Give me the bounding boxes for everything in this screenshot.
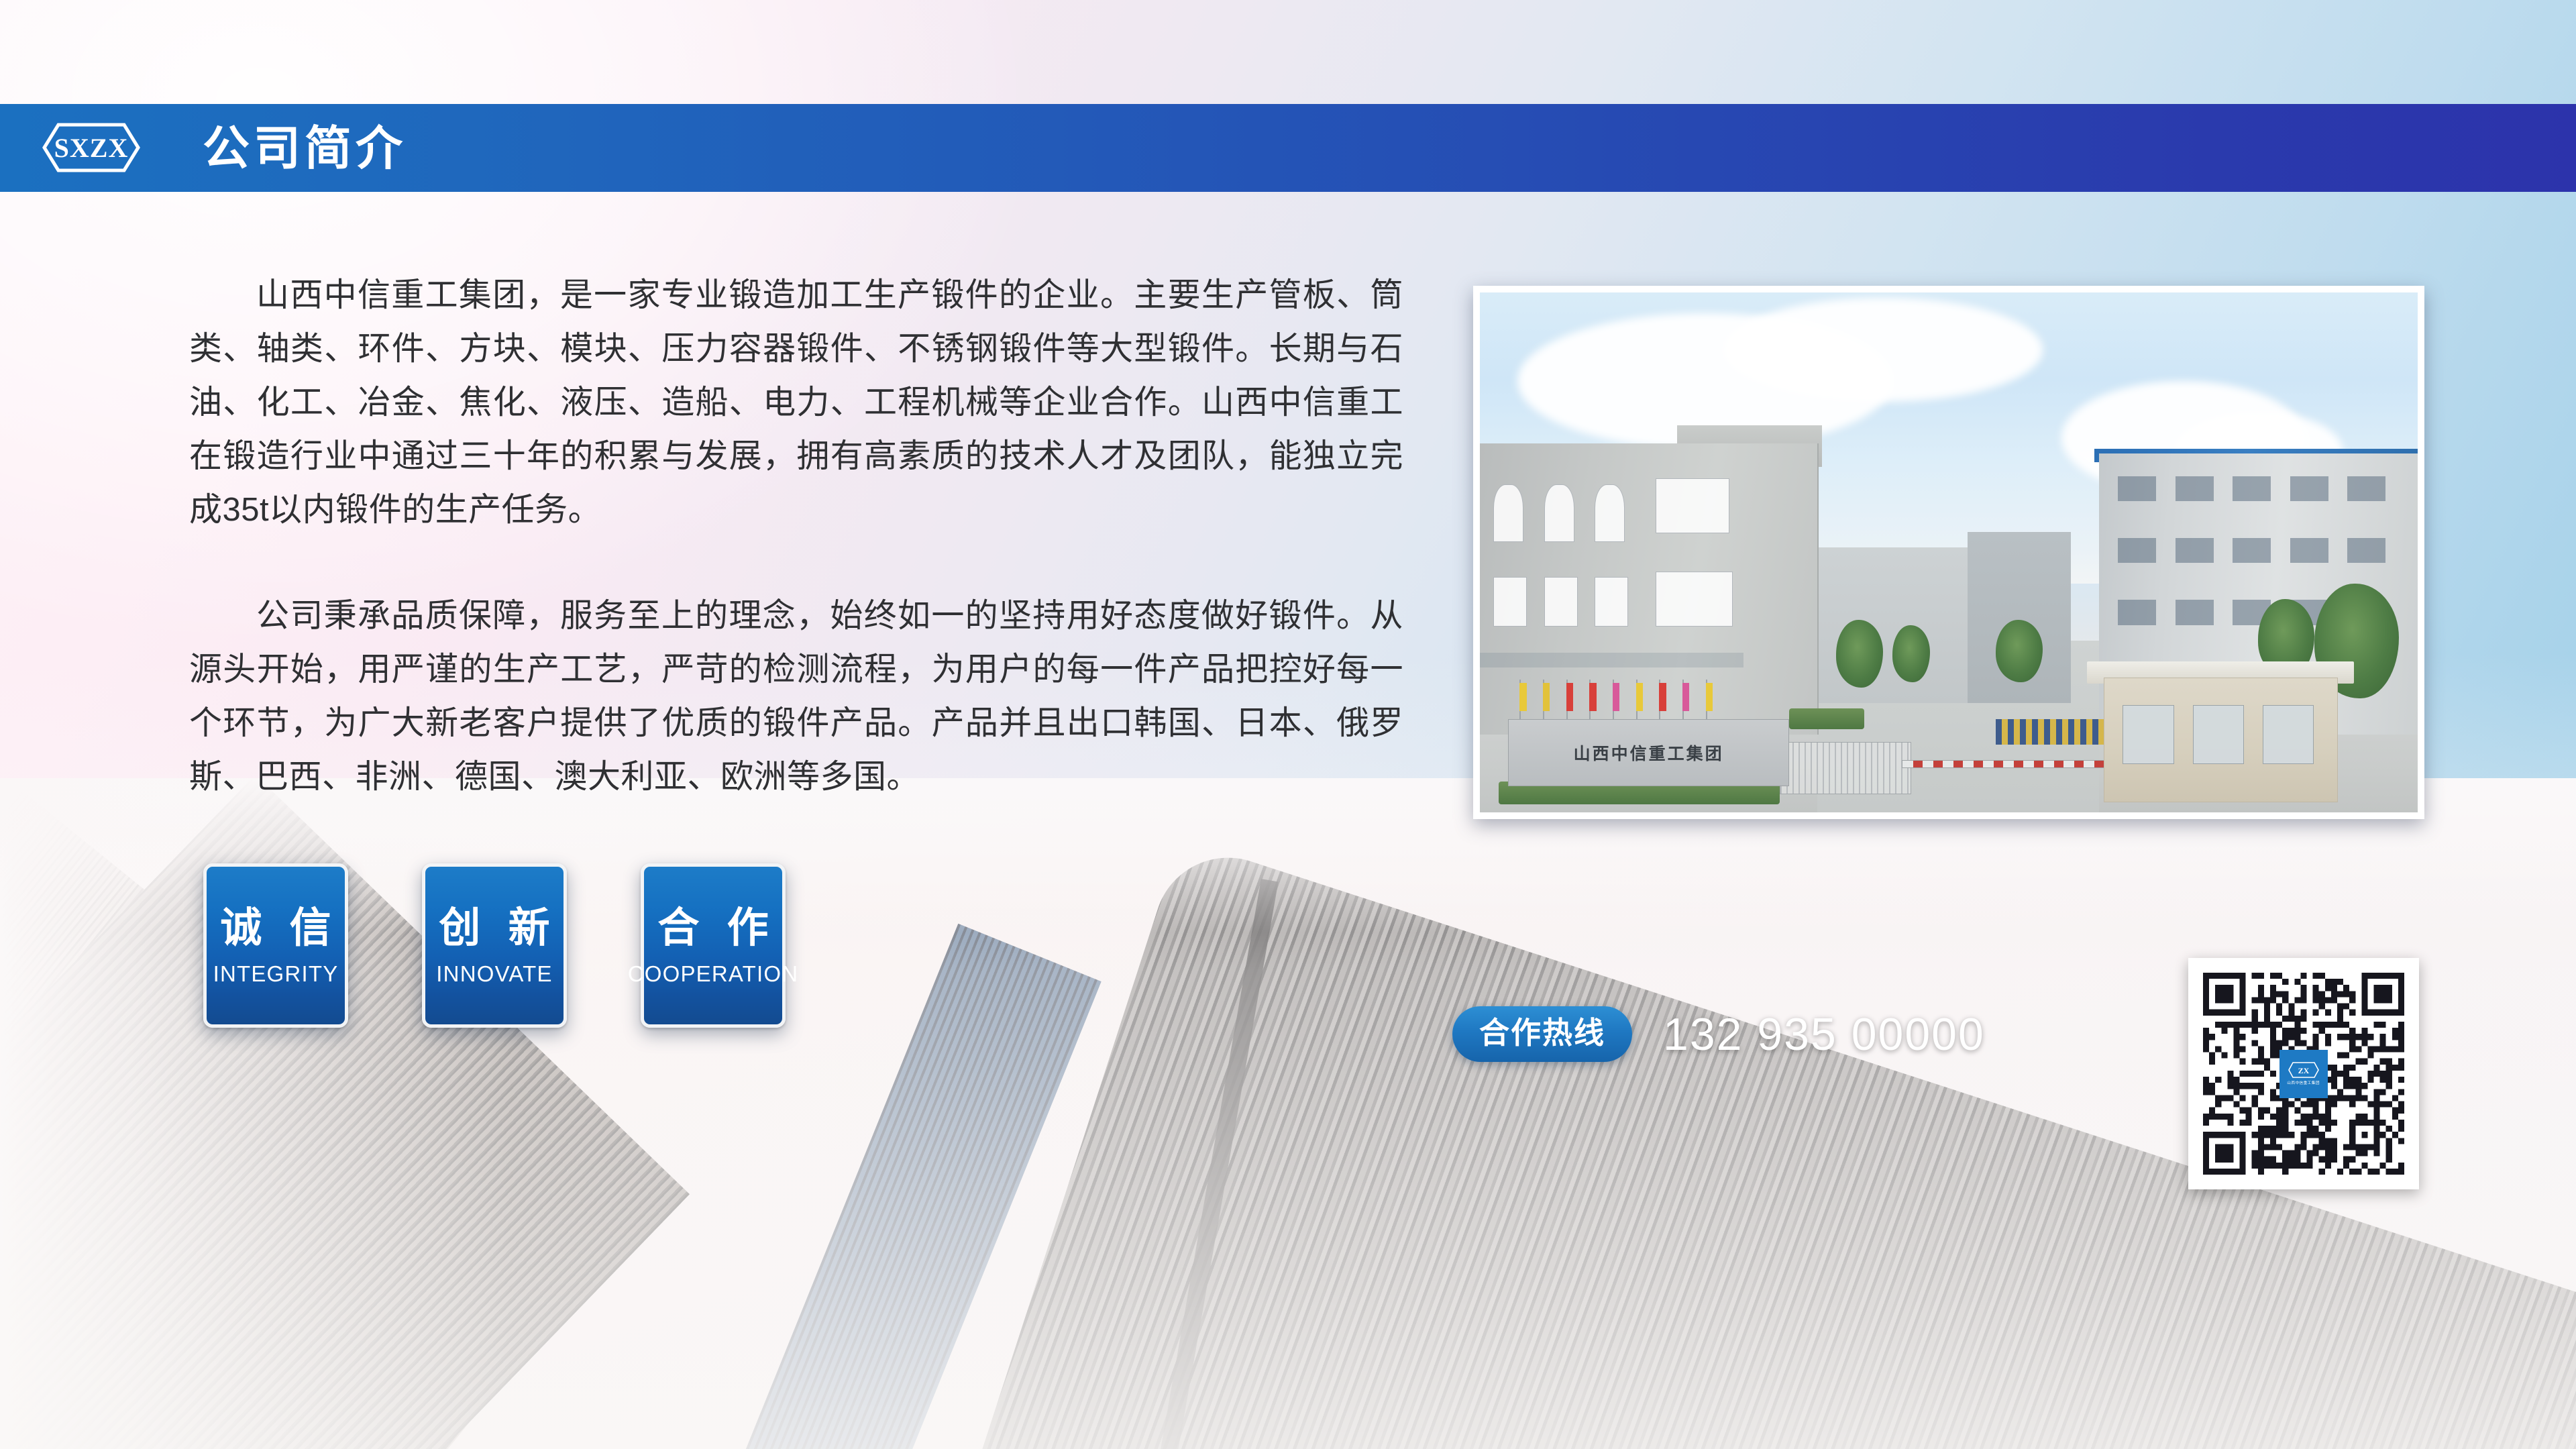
tree <box>1996 620 2043 682</box>
paragraph-2: 公司秉承品质保障，服务至上的理念，始终如一的坚持用好态度做好锻件。从源头开始，用… <box>189 589 1403 804</box>
hexagon-badge-icon: SXZX <box>42 123 140 172</box>
factory-photo-frame: 山西中信重工集团 <box>1473 286 2424 819</box>
hotline-pill: 合作热线 <box>1452 1006 1632 1062</box>
wechat-qr-code[interactable]: ZX 山西中信重工集团 <box>2188 958 2419 1189</box>
flag-row <box>1508 680 1799 718</box>
qr-matrix: ZX 山西中信重工集团 <box>2203 973 2404 1175</box>
value-card-en-label: COOPERATION <box>628 961 799 987</box>
qr-hexagon-icon: ZX <box>2288 1061 2320 1079</box>
sliding-gate <box>1780 742 1911 794</box>
value-card-en-label: INNOVATE <box>436 961 552 987</box>
value-cards: 诚 信 INTEGRITY 创 新 INNOVATE 合 作 COOPERATI… <box>203 863 786 1028</box>
value-card-integrity[interactable]: 诚 信 INTEGRITY <box>203 863 348 1028</box>
company-sign-wall: 山西中信重工集团 <box>1508 719 1789 787</box>
qr-logo-wordmark: ZX <box>2298 1066 2310 1075</box>
tree <box>1892 625 1930 682</box>
hotline-label: 合作热线 <box>1479 1014 1605 1052</box>
guard-house <box>2104 678 2339 802</box>
paragraph-1: 山西中信重工集团，是一家专业锻造加工生产锻件的企业。主要生产管板、筒类、轴类、环… <box>189 268 1403 537</box>
value-card-cn-label: 合 作 <box>649 905 776 952</box>
value-card-en-label: INTEGRITY <box>213 961 339 987</box>
company-sign-text: 山西中信重工集团 <box>1574 741 1724 765</box>
cloud-shape <box>1723 298 2042 402</box>
hotline-block: 合作热线 132 935 00000 <box>1452 1006 1985 1062</box>
value-card-cn-label: 诚 信 <box>212 905 339 952</box>
hotline-number: 132 935 00000 <box>1663 1010 1985 1059</box>
factory-photo: 山西中信重工集团 <box>1480 292 2418 812</box>
slide-root: SXZX 公司简介 山西中信重工集团，是一家专业锻造加工生产锻件的企业。主要生产… <box>0 0 2576 1449</box>
value-card-innovate[interactable]: 创 新 INNOVATE <box>422 863 567 1028</box>
logo-wordmark: SXZX <box>54 133 129 163</box>
company-description: 山西中信重工集团，是一家专业锻造加工生产锻件的企业。主要生产管板、筒类、轴类、环… <box>189 268 1403 804</box>
traffic-barrier-striped <box>1996 719 2118 745</box>
qr-center-logo: ZX 山西中信重工集团 <box>2279 1050 2328 1098</box>
page-title: 公司简介 <box>203 118 407 178</box>
boom-barrier <box>1902 760 2137 768</box>
distant-building <box>1808 547 1977 704</box>
value-card-cooperation[interactable]: 合 作 COOPERATION <box>641 863 786 1028</box>
qr-logo-subtitle: 山西中信重工集团 <box>2288 1081 2320 1086</box>
value-card-cn-label: 创 新 <box>431 905 557 952</box>
hedge <box>1789 708 1864 729</box>
tree <box>1836 620 1883 688</box>
